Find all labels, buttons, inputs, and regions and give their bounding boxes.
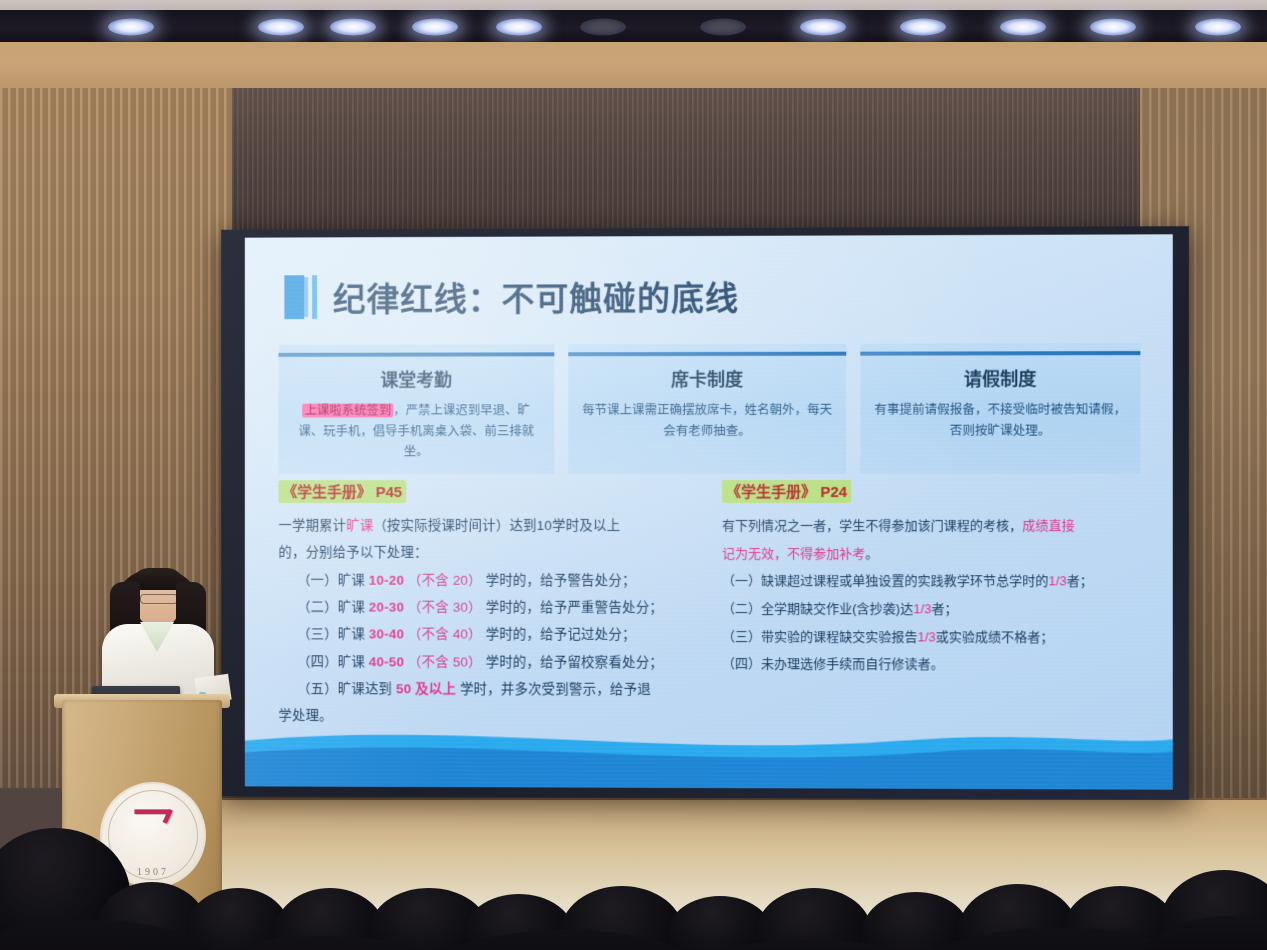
card-title: 席卡制度 xyxy=(568,366,846,392)
left-intro-a: 一学期累计 xyxy=(278,518,346,533)
slide-wave-decoration xyxy=(245,717,1173,790)
list-item: （二）旷课 20-30 （不含 30） 学时的，给予严重警告处分； xyxy=(278,594,700,621)
item-paren: （不含 20） xyxy=(408,572,482,587)
right-column-text: 有下列情况之一者，学生不得参加该门课程的考核，成绩直接 记为无效，不得参加补考。… xyxy=(722,513,1144,679)
ceiling-lamp-icon xyxy=(108,19,154,36)
projection-screen: 纪律红线：不可触碰的底线 课堂考勤 上课啦系统签到，严禁上课迟到早退、旷课、玩手… xyxy=(245,234,1173,789)
list-item: （二）全学期缺交作业(含抄袭)达1/3者； xyxy=(722,596,1144,623)
handbook-page-number: P24 xyxy=(820,484,847,501)
list-item: （四）旷课 40-50 （不含 50） 学时的，给予留校察看处分； xyxy=(278,649,700,676)
right-intro-line2: 记为无效，不得参加补考。 xyxy=(722,541,1144,568)
card-body: 上课啦系统签到，严禁上课迟到早退、旷课、玩手机，倡导手机离桌入袋、前三排就坐。 xyxy=(278,400,554,474)
card-body: 有事提前请假报备，不接受临时被告知请假，否则按旷课处理。 xyxy=(860,399,1140,453)
list-item: （一）旷课 10-20 （不含 20） 学时的，给予警告处分； xyxy=(278,567,700,594)
handbook-reference-p24: 《学生手册》 P24 xyxy=(722,480,851,503)
university-emblem: 乛 1907 xyxy=(100,782,206,888)
policy-card-attendance: 课堂考勤 上课啦系统签到，严禁上课迟到早退、旷课、玩手机，倡导手机离桌入袋、前三… xyxy=(278,344,554,474)
right-intro-b: 成绩直接 xyxy=(1022,518,1074,533)
item-tail: 学时的，给予留校察看处分； xyxy=(486,654,663,669)
lecture-hall-scene: 纪律红线：不可触碰的底线 课堂考勤 上课啦系统签到，严禁上课迟到早退、旷课、玩手… xyxy=(0,0,1267,950)
item-range: 20-30 xyxy=(369,600,404,615)
card-top-rule xyxy=(568,352,846,357)
ceiling-lamp-icon xyxy=(330,19,376,36)
ceiling-lamp-icon xyxy=(800,19,846,36)
item-paren: （不含 50） xyxy=(408,654,482,669)
glasses-icon xyxy=(140,594,178,604)
ceiling-lamp-icon xyxy=(900,19,946,36)
card-title: 请假制度 xyxy=(860,365,1140,392)
ceiling-lamp-icon xyxy=(412,19,458,36)
item-tail: 或实验成绩不格者； xyxy=(936,629,1054,644)
handbook-columns: 《学生手册》 P45 一学期累计旷课（按实际授课时间计）达到10学时及以上 的，… xyxy=(278,480,1144,733)
projection-screen-frame: 纪律红线：不可触碰的底线 课堂考勤 上课啦系统签到，严禁上课迟到早退、旷课、玩手… xyxy=(221,226,1189,800)
item5-a: （五）旷课达到 xyxy=(297,681,392,696)
item-label: （一）旷课 xyxy=(297,572,365,587)
slide-title-row: 纪律红线：不可触碰的底线 xyxy=(284,272,739,321)
right-intro-c: 记为无效，不得参加补考 xyxy=(722,546,865,561)
ceiling-lamp-icon xyxy=(1090,19,1136,36)
left-intro-line: 一学期累计旷课（按实际授课时间计）达到10学时及以上 xyxy=(278,513,700,539)
ceiling-lamp-icon xyxy=(1000,19,1046,36)
list-item: （三）旷课 30-40 （不含 40） 学时的，给予记过处分； xyxy=(278,622,700,649)
list-item: （五）旷课达到 50 及以上 学时，并多次受到警示，给予退 xyxy=(278,676,700,703)
item-text: （四）未办理选修手续而自行修读者。 xyxy=(722,656,944,671)
ceiling-lamp-icon xyxy=(1195,19,1241,36)
item-tail: 学时的，给予严重警告处分； xyxy=(486,600,663,615)
handbook-column-right: 《学生手册》 P24 有下列情况之一者，学生不得参加该门课程的考核，成绩直接 记… xyxy=(722,480,1144,733)
item-paren: （不含 40） xyxy=(408,627,482,642)
item-text: （三）带实验的课程缺交实验报告 xyxy=(722,629,918,644)
left-intro-b: 旷课 xyxy=(346,518,373,533)
right-intro-line: 有下列情况之一者，学生不得参加该门课程的考核，成绩直接 xyxy=(722,513,1144,540)
item-text: （一）缺课超过课程或单独设置的实践教学环节总学时的 xyxy=(722,573,1049,588)
left-intro-c: （按实际授课时间计）达到10学时及以上 xyxy=(373,518,620,533)
emblem-mark-icon: 乛 xyxy=(131,793,175,857)
list-item: （一）缺课超过课程或单独设置的实践教学环节总学时的1/3者； xyxy=(722,568,1144,595)
item5-c: 学时，并多次受到警示，给予退 xyxy=(460,681,651,696)
item-label: （二）旷课 xyxy=(297,599,365,614)
ceiling-lamp-icon xyxy=(700,19,746,36)
card-body: 每节课上课需正确摆放席卡，姓名朝外，每天会有老师抽查。 xyxy=(568,400,846,454)
item-range: 30-40 xyxy=(369,627,404,642)
ceiling-lamp-icon xyxy=(258,19,304,36)
emblem-year: 1907 xyxy=(137,867,169,878)
handbook-column-left: 《学生手册》 P45 一学期累计旷课（按实际授课时间计）达到10学时及以上 的，… xyxy=(278,480,700,731)
title-accent-bar xyxy=(284,275,304,319)
policy-card-row: 课堂考勤 上课啦系统签到，严禁上课迟到早退、旷课、玩手机，倡导手机离桌入袋、前三… xyxy=(278,343,1140,474)
lower-wall-panel xyxy=(200,800,1267,950)
upper-wall xyxy=(0,42,1267,94)
item-label: （四）旷课 xyxy=(297,654,365,669)
item-fraction: 1/3 xyxy=(913,601,931,616)
left-intro-line2: 的，分别给予以下处理： xyxy=(278,540,700,566)
list-item: （四）未办理选修手续而自行修读者。 xyxy=(722,651,1144,679)
handbook-book-name: 《学生手册》 xyxy=(726,484,816,501)
policy-card-leave: 请假制度 有事提前请假报备，不接受临时被告知请假，否则按旷课处理。 xyxy=(860,343,1140,474)
page-title: 纪律红线：不可触碰的底线 xyxy=(333,272,739,321)
stage-drape-top xyxy=(232,88,1180,238)
list-item: （三）带实验的课程缺交实验报告1/3或实验成绩不格者； xyxy=(722,624,1144,651)
item5-b: 50 及以上 xyxy=(396,681,456,696)
handbook-book-name: 《学生手册》 xyxy=(282,484,371,501)
card-title: 课堂考勤 xyxy=(278,366,554,392)
policy-card-seatcard: 席卡制度 每节课上课需正确摆放席卡，姓名朝外，每天会有老师抽查。 xyxy=(568,344,846,474)
item-paren: （不含 30） xyxy=(408,600,482,615)
item-tail: 者； xyxy=(931,601,957,616)
ceiling-light-rail xyxy=(0,10,1267,44)
item-range: 10-20 xyxy=(369,572,404,587)
item-tail: 学时的，给予记过处分； xyxy=(486,627,636,642)
left-column-text: 一学期累计旷课（按实际授课时间计）达到10学时及以上 的，分别给予以下处理： （… xyxy=(278,513,700,730)
handbook-reference-p45: 《学生手册》 P45 xyxy=(278,480,406,503)
ceiling-lamp-icon xyxy=(496,19,542,36)
ceiling-lamp-icon xyxy=(580,19,626,36)
item-text: （二）全学期缺交作业(含抄袭)达 xyxy=(722,601,913,616)
card-top-rule xyxy=(278,352,554,357)
item-tail: 学时的，给予警告处分； xyxy=(486,572,636,587)
right-intro-d: 。 xyxy=(865,546,878,561)
card-body-highlight: 上课啦系统签到 xyxy=(303,403,394,417)
item-fraction: 1/3 xyxy=(918,629,936,644)
title-accent-bar-thin xyxy=(312,275,317,319)
card-top-rule xyxy=(860,351,1140,356)
item-range: 40-50 xyxy=(369,654,404,669)
item-fraction: 1/3 xyxy=(1049,574,1067,589)
item-tail: 者； xyxy=(1067,574,1093,589)
right-intro-a: 有下列情况之一者，学生不得参加该门课程的考核， xyxy=(722,518,1022,533)
handbook-page-number: P45 xyxy=(376,484,402,501)
presentation-slide: 纪律红线：不可触碰的底线 课堂考勤 上课啦系统签到，严禁上课迟到早退、旷课、玩手… xyxy=(245,234,1173,789)
item-label: （三）旷课 xyxy=(297,627,365,642)
